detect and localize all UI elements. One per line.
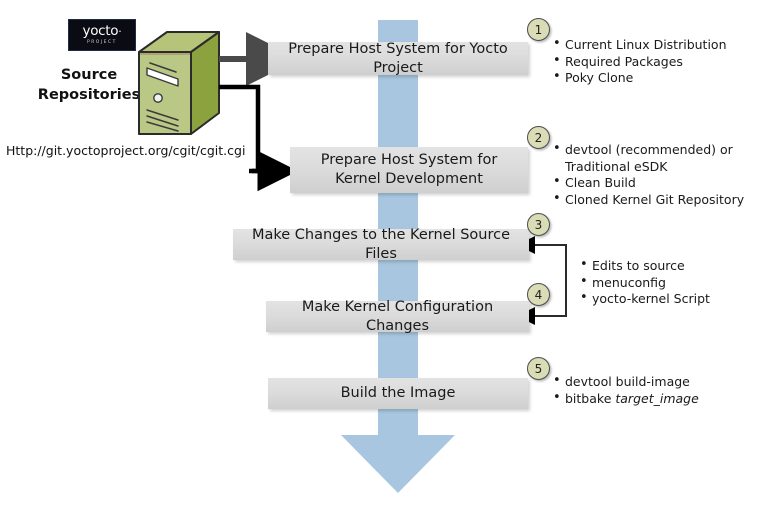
process-box-step-1[interactable]: Prepare Host System for Yocto Project [268,42,528,75]
step-number-3: 3 [527,213,550,236]
list-item: menuconfig [580,275,710,292]
list-item: Edits to source [580,258,710,275]
list-item: Poky Clone [553,70,727,87]
list-item: bitbake target_image [553,391,699,408]
step-number-2: 2 [527,126,550,149]
arrow-source-to-step2 [219,87,258,171]
list-item-argument: target_image [615,391,698,406]
list-item: Cloned Kernel Git Repository [553,192,744,209]
list-item-command: bitbake [565,391,615,406]
process-box-step-3[interactable]: Make Changes to the Kernel Source Files [233,229,529,260]
step-number-1: 1 [527,18,550,41]
process-box-step-5[interactable]: Build the Image [268,378,528,409]
list-item: devtool (recommended) or [553,142,744,159]
step-number-5: 5 [527,357,550,380]
list-item: yocto-kernel Script [580,291,710,308]
yocto-kernel-development-flow-diagram: yocto· PROJECT Source Repositories Http:… [0,0,769,517]
list-item: Clean Build [553,175,744,192]
list-item-continuation: Traditional eSDK [553,159,744,176]
steps-3-4-shared-bullets: Edits to source menuconfig yocto-kernel … [580,258,710,308]
step-2-bullets: devtool (recommended) or Traditional eSD… [553,142,744,208]
step-number-4: 4 [527,283,550,306]
step-1-bullets: Current Linux Distribution Required Pack… [553,37,727,87]
process-box-step-2[interactable]: Prepare Host System for Kernel Developme… [290,147,528,193]
list-item: devtool build-image [553,374,699,391]
list-item: Required Packages [553,54,727,71]
list-item: Current Linux Distribution [553,37,727,54]
bracket-steps-3-4 [545,245,566,316]
process-box-step-4[interactable]: Make Kernel Configuration Changes [266,301,529,332]
step-5-bullets: devtool build-image bitbake target_image [553,374,699,407]
